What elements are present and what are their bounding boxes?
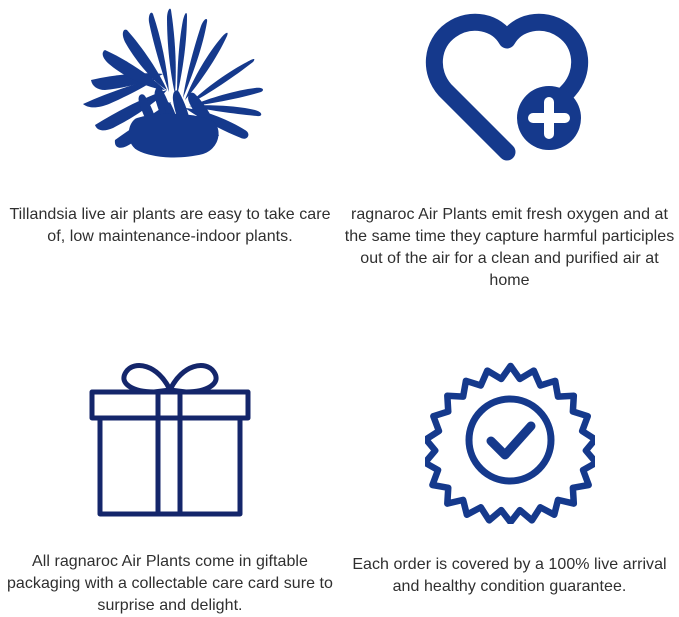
heart-plus-icon bbox=[425, 8, 595, 168]
feature-cell-air-plant: Tillandsia live air plants are easy to t… bbox=[0, 0, 340, 308]
feature-cell-health: ragnaroc Air Plants emit fresh oxygen an… bbox=[340, 0, 679, 308]
guarantee-badge-icon bbox=[425, 356, 595, 524]
feature-caption: Each order is covered by a 100% live arr… bbox=[345, 554, 675, 598]
feature-caption: Tillandsia live air plants are easy to t… bbox=[3, 204, 337, 248]
feature-grid: Tillandsia live air plants are easy to t… bbox=[0, 0, 679, 616]
feature-caption: ragnaroc Air Plants emit fresh oxygen an… bbox=[345, 204, 675, 292]
feature-caption: All ragnaroc Air Plants come in giftable… bbox=[3, 551, 337, 617]
gift-box-icon bbox=[80, 356, 260, 521]
air-plant-icon bbox=[75, 8, 265, 168]
feature-cell-gifting: All ragnaroc Air Plants come in giftable… bbox=[0, 308, 340, 616]
feature-cell-guarantee: Each order is covered by a 100% live arr… bbox=[340, 308, 679, 616]
